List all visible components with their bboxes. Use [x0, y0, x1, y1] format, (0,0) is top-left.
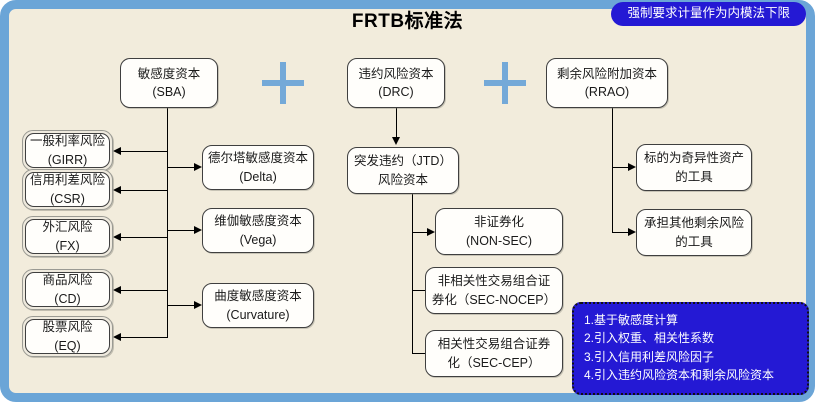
- node-risk-eq-en: (EQ): [54, 337, 80, 355]
- node-drc-nonsec-line1: 非证券化: [474, 213, 524, 231]
- arrowhead-nonsec: [427, 228, 435, 236]
- node-sba-cn: 敏感度资本: [138, 65, 201, 83]
- node-risk-fx[interactable]: 外汇风险 (FX): [22, 216, 113, 257]
- node-drc-secnocep-line2: 券化（SEC-NOCEP）: [432, 291, 556, 309]
- arrowhead-curvature: [194, 301, 202, 309]
- connector-sba-spine: [167, 108, 168, 338]
- connector-sba-girr: [121, 151, 168, 152]
- node-risk-csr-en: (CSR): [50, 190, 85, 208]
- connector-sba-delta: [167, 167, 195, 168]
- node-jtd-line2: 风险资本: [378, 171, 428, 189]
- connector-jtd-nonsec: [412, 232, 428, 233]
- node-risk-cd[interactable]: 商品风险 (CD): [22, 269, 113, 310]
- node-sens-vega[interactable]: 维伽敏感度资本 (Vega): [202, 208, 314, 253]
- node-risk-cd-cn: 商品风险: [42, 271, 92, 289]
- node-rrao-other-line2: 的工具: [675, 233, 713, 251]
- node-drc-nonsec-line2: (NON-SEC): [466, 232, 532, 250]
- node-drc[interactable]: 违约风险资本 (DRC): [347, 58, 445, 108]
- node-rrao-exotic-line1: 标的为奇异性资产: [644, 149, 744, 167]
- node-risk-csr-cn: 信用利差风险: [30, 171, 105, 189]
- node-risk-cd-en: (CD): [54, 290, 80, 308]
- node-risk-girr-cn: 一般利率风险: [30, 132, 105, 150]
- node-rrao-other[interactable]: 承担其他剩余风险 的工具: [636, 209, 752, 256]
- connector-sba-cd: [121, 290, 168, 291]
- connector-sba-curvature: [167, 305, 195, 306]
- node-rrao-en: (RRAO): [585, 83, 629, 101]
- note-item-2: 2.引入权重、相关性系数: [584, 329, 798, 348]
- node-sens-curvature-en: (Curvature): [226, 306, 289, 324]
- arrowhead-delta: [194, 163, 202, 171]
- node-rrao-exotic[interactable]: 标的为奇异性资产 的工具: [636, 144, 752, 191]
- node-drc-secnocep[interactable]: 非相关性交易组合证 券化（SEC-NOCEP）: [425, 267, 563, 314]
- note-item-3: 3.引入信用利差风险因子: [584, 348, 798, 367]
- arrowhead-csr: [113, 186, 121, 194]
- node-jtd-line1: 突发违约（JTD）: [354, 152, 452, 170]
- plus-operator-1: [262, 62, 304, 104]
- node-risk-csr[interactable]: 信用利差风险 (CSR): [22, 169, 113, 210]
- connector-sba-csr: [121, 190, 168, 191]
- connector-jtd-spine: [412, 194, 413, 354]
- notes-panel: 1.基于敏感度计算 2.引入权重、相关性系数 3.引入信用利差风险因子 4.引入…: [572, 302, 809, 395]
- node-rrao-other-line1: 承担其他剩余风险: [644, 214, 744, 232]
- node-drc-seccep-line1: 相关性交易组合证券: [438, 335, 551, 353]
- status-badge: 强制要求计量作为内模法下限: [611, 2, 806, 26]
- diagram-canvas: FRTB标准法 强制要求计量作为内模法下限 敏感度资本 (SBA) 违约风险资本…: [0, 0, 815, 402]
- node-drc-nonsec[interactable]: 非证券化 (NON-SEC): [435, 208, 563, 255]
- arrowhead-cd: [113, 286, 121, 294]
- node-drc-seccep-line2: 化（SEC-CEP）: [447, 354, 540, 372]
- node-drc-secnocep-line1: 非相关性交易组合证: [438, 272, 551, 290]
- node-sens-curvature-cn: 曲度敏感度资本: [214, 287, 302, 305]
- connector-rrao-spine: [612, 108, 613, 233]
- arrowhead-girr: [113, 147, 121, 155]
- node-risk-fx-en: (FX): [55, 237, 79, 255]
- node-drc-cn: 违约风险资本: [358, 65, 433, 83]
- arrowhead-rrao-exotic: [628, 163, 636, 171]
- node-rrao-exotic-line2: 的工具: [675, 168, 713, 186]
- node-sba-en: (SBA): [152, 83, 185, 101]
- node-risk-fx-cn: 外汇风险: [42, 218, 92, 236]
- node-sens-vega-cn: 维伽敏感度资本: [214, 212, 302, 230]
- arrowhead-rrao-other: [628, 228, 636, 236]
- node-risk-girr-en: (GIRR): [48, 151, 88, 169]
- node-rrao[interactable]: 剩余风险附加资本 (RRAO): [546, 58, 668, 108]
- connector-sba-fx: [121, 237, 168, 238]
- arrowhead-jtd: [392, 137, 400, 145]
- arrowhead-vega: [194, 226, 202, 234]
- node-drc-seccep[interactable]: 相关性交易组合证券 化（SEC-CEP）: [425, 330, 563, 377]
- note-item-1: 1.基于敏感度计算: [584, 311, 798, 330]
- note-item-4: 4.引入违约风险资本和剩余风险资本: [584, 366, 798, 385]
- connector-drc-to-jtd: [396, 108, 397, 138]
- node-sens-vega-en: (Vega): [240, 231, 277, 249]
- node-rrao-cn: 剩余风险附加资本: [557, 65, 657, 83]
- connector-rrao-exotic: [612, 167, 629, 168]
- connector-sba-vega: [167, 230, 195, 231]
- plus-operator-2: [484, 62, 526, 104]
- connector-rrao-other: [612, 232, 629, 233]
- node-risk-eq[interactable]: 股票风险 (EQ): [22, 316, 113, 357]
- node-sens-delta-en: (Delta): [239, 168, 277, 186]
- arrowhead-fx: [113, 233, 121, 241]
- node-sens-delta[interactable]: 德尔塔敏感度资本 (Delta): [202, 145, 314, 190]
- node-sens-curvature[interactable]: 曲度敏感度资本 (Curvature): [202, 283, 314, 328]
- node-risk-eq-cn: 股票风险: [42, 318, 92, 336]
- node-drc-en: (DRC): [378, 83, 413, 101]
- node-sba[interactable]: 敏感度资本 (SBA): [120, 58, 218, 108]
- connector-sba-eq: [121, 337, 168, 338]
- node-sens-delta-cn: 德尔塔敏感度资本: [208, 149, 308, 167]
- node-jtd[interactable]: 突发违约（JTD） 风险资本: [347, 147, 459, 194]
- node-risk-girr[interactable]: 一般利率风险 (GIRR): [22, 130, 113, 171]
- arrowhead-eq: [113, 333, 121, 341]
